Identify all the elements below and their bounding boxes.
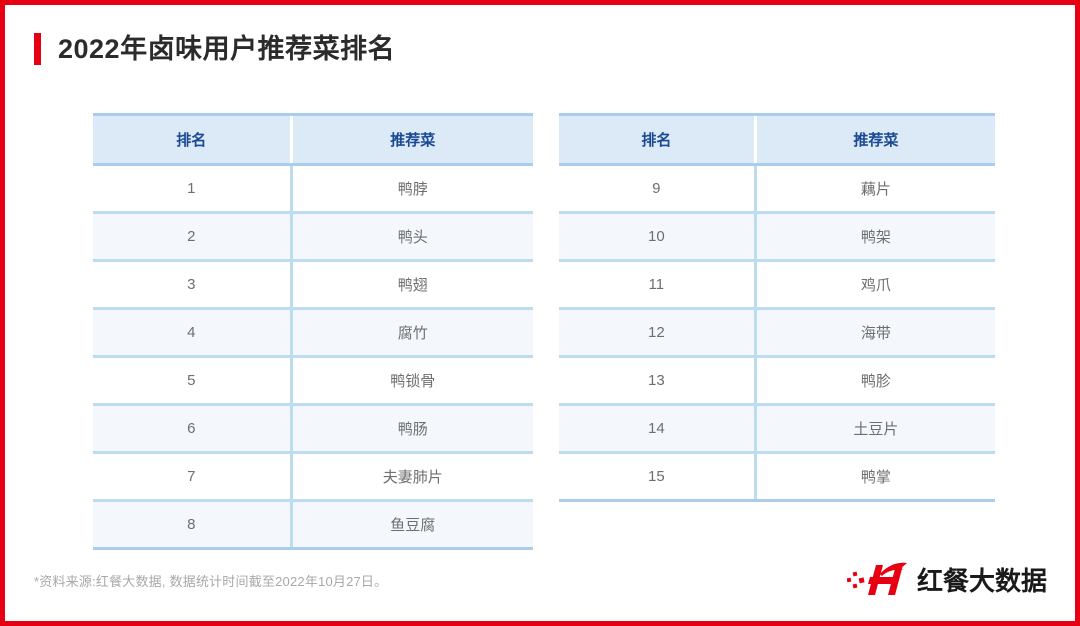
cell-rank: 7 (93, 453, 291, 501)
cell-dish: 鸭胗 (755, 357, 995, 405)
hongcan-h-logo-icon (847, 561, 909, 601)
cell-dish: 鸭脖 (291, 165, 533, 213)
slide-canvas: 2022年卤味用户推荐菜排名 排名 推荐菜 1 鸭脖 2 鸭头 3 鸭翅 (0, 0, 1080, 626)
table-row[interactable]: 9 藕片 (559, 165, 995, 213)
column-header-dish: 推荐菜 (291, 115, 533, 165)
cell-dish: 夫妻肺片 (291, 453, 533, 501)
cell-dish: 鸭掌 (755, 453, 995, 501)
rank-table-right: 排名 推荐菜 9 藕片 10 鸭架 11 鸡爪 12 海带 13 (559, 113, 995, 502)
table-header-row: 排名 推荐菜 (559, 115, 995, 165)
title-accent-bar-icon (34, 33, 41, 65)
table-row[interactable]: 6 鸭肠 (93, 405, 533, 453)
table-row[interactable]: 4 腐竹 (93, 309, 533, 357)
column-header-rank: 排名 (559, 115, 755, 165)
column-header-dish: 推荐菜 (755, 115, 995, 165)
cell-rank: 6 (93, 405, 291, 453)
brand-logo: 红餐大数据 (847, 561, 1047, 601)
cell-dish: 土豆片 (755, 405, 995, 453)
cell-rank: 5 (93, 357, 291, 405)
cell-rank: 12 (559, 309, 755, 357)
table-row[interactable]: 13 鸭胗 (559, 357, 995, 405)
cell-rank: 1 (93, 165, 291, 213)
cell-rank: 11 (559, 261, 755, 309)
cell-rank: 2 (93, 213, 291, 261)
cell-dish: 鸭翅 (291, 261, 533, 309)
cell-dish: 藕片 (755, 165, 995, 213)
cell-dish: 鸭肠 (291, 405, 533, 453)
table-row[interactable]: 7 夫妻肺片 (93, 453, 533, 501)
table-row[interactable]: 15 鸭掌 (559, 453, 995, 501)
cell-rank: 3 (93, 261, 291, 309)
table-row[interactable]: 14 土豆片 (559, 405, 995, 453)
table-row[interactable]: 11 鸡爪 (559, 261, 995, 309)
column-header-rank: 排名 (93, 115, 291, 165)
cell-dish: 鸡爪 (755, 261, 995, 309)
table-header-row: 排名 推荐菜 (93, 115, 533, 165)
table-row[interactable]: 10 鸭架 (559, 213, 995, 261)
cell-dish: 鸭锁骨 (291, 357, 533, 405)
table-row[interactable]: 3 鸭翅 (93, 261, 533, 309)
cell-rank: 9 (559, 165, 755, 213)
table-row[interactable]: 8 鱼豆腐 (93, 501, 533, 549)
brand-logo-text: 红餐大数据 (917, 568, 1047, 594)
cell-rank: 10 (559, 213, 755, 261)
cell-rank: 15 (559, 453, 755, 501)
cell-dish: 鱼豆腐 (291, 501, 533, 549)
cell-rank: 14 (559, 405, 755, 453)
cell-rank: 8 (93, 501, 291, 549)
cell-dish: 腐竹 (291, 309, 533, 357)
table-row[interactable]: 12 海带 (559, 309, 995, 357)
title-row: 2022年卤味用户推荐菜排名 (34, 33, 395, 65)
cell-rank: 4 (93, 309, 291, 357)
cell-dish: 海带 (755, 309, 995, 357)
source-footnote: *资料来源:红餐大数据, 数据统计时间截至2022年10月27日。 (34, 571, 387, 590)
cell-rank: 13 (559, 357, 755, 405)
table-row[interactable]: 5 鸭锁骨 (93, 357, 533, 405)
cell-dish: 鸭架 (755, 213, 995, 261)
rank-table-left: 排名 推荐菜 1 鸭脖 2 鸭头 3 鸭翅 4 腐竹 5 鸭锁骨 (93, 113, 533, 550)
table-row[interactable]: 1 鸭脖 (93, 165, 533, 213)
cell-dish: 鸭头 (291, 213, 533, 261)
page-title: 2022年卤味用户推荐菜排名 (58, 36, 395, 63)
table-row[interactable]: 2 鸭头 (93, 213, 533, 261)
